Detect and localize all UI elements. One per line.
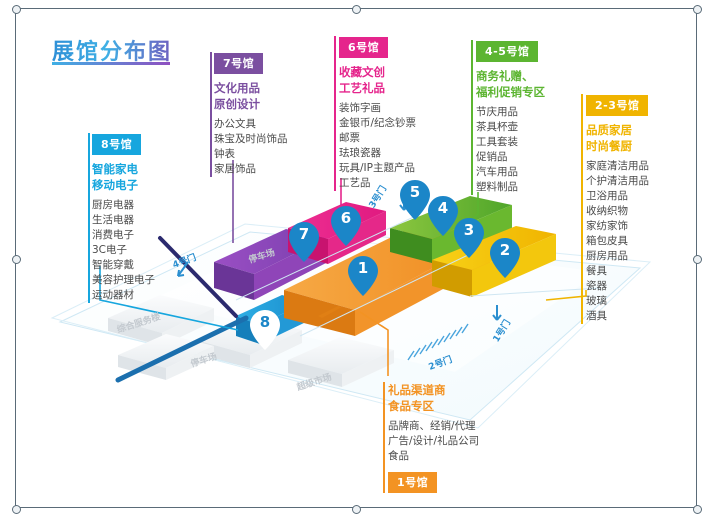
selection-handle-middle-left[interactable] xyxy=(12,255,21,264)
hall-7-subtitle: 文化用品 原创设计 xyxy=(214,80,288,112)
hall-1-subtitle-line-1: 礼品渠道商 xyxy=(388,382,479,398)
list-item: 家居饰品 xyxy=(214,162,288,177)
list-item: 食品 xyxy=(388,449,479,464)
map-pin-3[interactable]: 3 xyxy=(454,218,484,258)
hall-4-5-items: 节庆用品 茶具杯壶 工具套装 促销品 汽车用品 塑料制品 xyxy=(476,105,545,195)
list-item: 消费电子 xyxy=(92,228,155,243)
list-item: 厨房用品 xyxy=(586,249,649,264)
hall-4-5-subtitle: 商务礼赠、 福利促销专区 xyxy=(476,68,545,100)
list-item: 玩具/IP主题产品 xyxy=(339,161,416,176)
selection-handle-bottom-left[interactable] xyxy=(12,505,21,514)
list-item: 收纳织物 xyxy=(586,204,649,219)
hall-8-items: 厨房电器 生活电器 消费电子 3C电子 智能穿戴 美容护理电子 运动器材 xyxy=(92,198,155,303)
map-pin-7-number: 7 xyxy=(289,225,319,243)
hall-8-subtitle-line-2: 移动电子 xyxy=(92,177,155,193)
list-item: 家纺家饰 xyxy=(586,219,649,234)
hall-7-subtitle-line-2: 原创设计 xyxy=(214,96,288,112)
list-item: 汽车用品 xyxy=(476,165,545,180)
hall-4-5-subtitle-line-2: 福利促销专区 xyxy=(476,84,545,100)
list-item: 家庭清洁用品 xyxy=(586,159,649,174)
hall-4-5-tag: 4-5号馆 xyxy=(476,41,538,62)
list-item: 广告/设计/礼品公司 xyxy=(388,434,479,449)
hall-card-4-5[interactable]: 4-5号馆 商务礼赠、 福利促销专区 节庆用品 茶具杯壶 工具套装 促销品 汽车… xyxy=(476,40,545,195)
list-item: 钟表 xyxy=(214,147,288,162)
hall-card-2-3[interactable]: 2-3号馆 品质家居 时尚餐厨 家庭清洁用品 个护清洁用品 卫浴用品 收纳织物 … xyxy=(586,94,649,324)
list-item: 金银币/纪念钞票 xyxy=(339,116,416,131)
hall-4-5-accent-bar xyxy=(471,40,473,195)
hall-6-subtitle-line-1: 收藏文创 xyxy=(339,64,416,80)
selection-handle-top-center[interactable] xyxy=(352,5,361,14)
list-item: 珐琅瓷器 xyxy=(339,146,416,161)
hall-1-accent-bar xyxy=(383,382,385,493)
map-pin-5[interactable]: 5 xyxy=(400,180,430,220)
hall-1-tag: 1号馆 xyxy=(388,472,437,493)
map-pin-5-number: 5 xyxy=(400,183,430,201)
hall-7-accent-bar xyxy=(210,52,212,177)
hall-2-3-subtitle-line-2: 时尚餐厨 xyxy=(586,138,649,154)
map-pin-8-number: 8 xyxy=(250,313,280,331)
list-item: 工具套装 xyxy=(476,135,545,150)
hall-8-tag: 8号馆 xyxy=(92,134,141,155)
map-pin-6-number: 6 xyxy=(331,209,361,227)
map-pin-1-number: 1 xyxy=(348,259,378,277)
list-item: 厨房电器 xyxy=(92,198,155,213)
hall-7-items: 办公文具 珠宝及时尚饰品 钟表 家居饰品 xyxy=(214,117,288,177)
hall-6-tag: 6号馆 xyxy=(339,37,388,58)
hall-8-subtitle: 智能家电 移动电子 xyxy=(92,161,155,193)
list-item: 运动器材 xyxy=(92,288,155,303)
map-pin-7[interactable]: 7 xyxy=(289,222,319,262)
map-pin-4-number: 4 xyxy=(428,199,458,217)
selection-handle-bottom-right[interactable] xyxy=(693,505,702,514)
list-item: 餐具 xyxy=(586,264,649,279)
hall-1-items: 品牌商、经销/代理 广告/设计/礼品公司 食品 xyxy=(388,419,479,464)
list-item: 邮票 xyxy=(339,131,416,146)
list-item: 智能穿戴 xyxy=(92,258,155,273)
hall-card-6[interactable]: 6号馆 收藏文创 工艺礼品 装饰字画 金银币/纪念钞票 邮票 珐琅瓷器 玩具/I… xyxy=(339,36,416,191)
list-item: 装饰字画 xyxy=(339,101,416,116)
list-item: 美容护理电子 xyxy=(92,273,155,288)
hall-8-accent-bar xyxy=(88,133,90,303)
hall-4-5-subtitle-line-1: 商务礼赠、 xyxy=(476,68,545,84)
selection-handle-top-left[interactable] xyxy=(12,5,21,14)
list-item: 办公文具 xyxy=(214,117,288,132)
map-pin-1[interactable]: 1 xyxy=(348,256,378,296)
hall-6-subtitle: 收藏文创 工艺礼品 xyxy=(339,64,416,96)
hall-2-3-accent-bar xyxy=(581,94,583,324)
list-item: 品牌商、经销/代理 xyxy=(388,419,479,434)
hall-card-1[interactable]: 礼品渠道商 食品专区 品牌商、经销/代理 广告/设计/礼品公司 食品 1号馆 xyxy=(388,382,479,493)
selection-handle-middle-right[interactable] xyxy=(693,255,702,264)
list-item: 塑料制品 xyxy=(476,180,545,195)
list-item: 个护清洁用品 xyxy=(586,174,649,189)
hall-7-subtitle-line-1: 文化用品 xyxy=(214,80,288,96)
list-item: 卫浴用品 xyxy=(586,189,649,204)
map-pin-8[interactable]: 8 xyxy=(250,310,280,350)
hall-6-subtitle-line-2: 工艺礼品 xyxy=(339,80,416,96)
map-pin-6[interactable]: 6 xyxy=(331,206,361,246)
list-item: 瓷器 xyxy=(586,279,649,294)
hall-2-3-subtitle-line-1: 品质家居 xyxy=(586,122,649,138)
list-item: 玻璃 xyxy=(586,294,649,309)
list-item: 节庆用品 xyxy=(476,105,545,120)
list-item: 珠宝及时尚饰品 xyxy=(214,132,288,147)
hall-6-accent-bar xyxy=(334,36,336,191)
list-item: 生活电器 xyxy=(92,213,155,228)
list-item: 茶具杯壶 xyxy=(476,120,545,135)
hall-8-subtitle-line-1: 智能家电 xyxy=(92,161,155,177)
hall-7-tag: 7号馆 xyxy=(214,53,263,74)
list-item: 箱包皮具 xyxy=(586,234,649,249)
hall-2-3-subtitle: 品质家居 时尚餐厨 xyxy=(586,122,649,154)
list-item: 酒具 xyxy=(586,309,649,324)
map-pin-2[interactable]: 2 xyxy=(490,238,520,278)
hall-card-7[interactable]: 7号馆 文化用品 原创设计 办公文具 珠宝及时尚饰品 钟表 家居饰品 xyxy=(214,52,288,177)
list-item: 3C电子 xyxy=(92,243,155,258)
hall-2-3-tag: 2-3号馆 xyxy=(586,95,648,116)
selection-handle-bottom-center[interactable] xyxy=(352,505,361,514)
hall-card-8[interactable]: 8号馆 智能家电 移动电子 厨房电器 生活电器 消费电子 3C电子 智能穿戴 美… xyxy=(92,133,155,303)
hall-1-subtitle: 礼品渠道商 食品专区 xyxy=(388,382,479,414)
selection-handle-top-right[interactable] xyxy=(693,5,702,14)
list-item: 促销品 xyxy=(476,150,545,165)
exhibition-map-canvas: 展馆分布图 xyxy=(0,0,711,517)
hall-6-items: 装饰字画 金银币/纪念钞票 邮票 珐琅瓷器 玩具/IP主题产品 工艺品 xyxy=(339,101,416,191)
map-pin-3-number: 3 xyxy=(454,221,484,239)
hall-2-3-items: 家庭清洁用品 个护清洁用品 卫浴用品 收纳织物 家纺家饰 箱包皮具 厨房用品 餐… xyxy=(586,159,649,324)
map-pin-2-number: 2 xyxy=(490,241,520,259)
hall-1-subtitle-line-2: 食品专区 xyxy=(388,398,479,414)
